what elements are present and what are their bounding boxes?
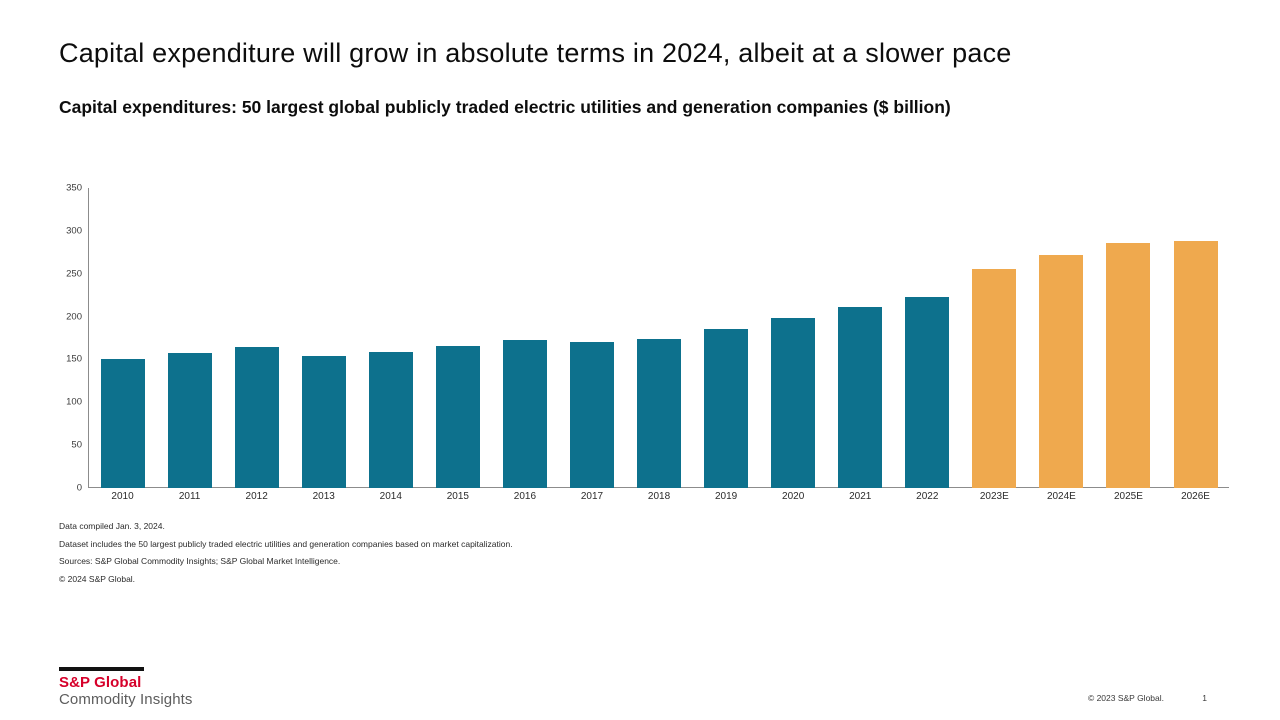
bar-2012[interactable] <box>223 188 290 488</box>
x-axis-label-2022: 2022 <box>894 488 961 505</box>
x-axis-labels: 2010201120122013201420152016201720182019… <box>89 488 1229 505</box>
y-axis-tick-250: 250 <box>66 268 82 279</box>
bar-fill-2025E <box>1106 243 1150 488</box>
y-axis-labels: 050100150200250300350 <box>59 180 86 505</box>
y-axis-tick-350: 350 <box>66 183 82 194</box>
bar-fill-2013 <box>302 356 346 488</box>
bar-fill-2015 <box>436 346 480 488</box>
x-axis-label-2016: 2016 <box>491 488 558 505</box>
x-axis-label-2014: 2014 <box>357 488 424 505</box>
slide: Capital expenditure will grow in absolut… <box>0 0 1280 720</box>
x-axis-label-2017: 2017 <box>558 488 625 505</box>
bar-2023E[interactable] <box>961 188 1028 488</box>
y-axis-tick-300: 300 <box>66 225 82 236</box>
footnote-1: Data compiled Jan. 3, 2024. <box>59 521 959 532</box>
chart-subtitle: Capital expenditures: 50 largest global … <box>59 95 1209 120</box>
y-axis-tick-50: 50 <box>71 440 82 451</box>
footnote-4: © 2024 S&P Global. <box>59 574 959 585</box>
page-number: 1 <box>1202 693 1207 703</box>
bar-2026E[interactable] <box>1162 188 1229 488</box>
bar-fill-2020 <box>771 318 815 488</box>
x-axis-label-2018: 2018 <box>626 488 693 505</box>
bar-2024E[interactable] <box>1028 188 1095 488</box>
bar-2014[interactable] <box>357 188 424 488</box>
logo-rule <box>59 667 144 671</box>
logo-division: Commodity Insights <box>59 691 299 709</box>
bar-fill-2017 <box>570 342 614 488</box>
bar-fill-2026E <box>1174 241 1218 488</box>
x-axis-label-2026E: 2026E <box>1162 488 1229 505</box>
bar-fill-2010 <box>101 359 145 488</box>
bar-fill-2014 <box>369 352 413 488</box>
y-axis-tick-200: 200 <box>66 311 82 322</box>
logo-brand: S&P Global <box>59 674 299 692</box>
bar-fill-2024E <box>1039 255 1083 488</box>
bar-2015[interactable] <box>424 188 491 488</box>
bar-2011[interactable] <box>156 188 223 488</box>
x-axis-label-2015: 2015 <box>424 488 491 505</box>
x-axis-label-2024E: 2024E <box>1028 488 1095 505</box>
x-axis-label-2010: 2010 <box>89 488 156 505</box>
bar-fill-2023E <box>972 269 1016 488</box>
x-axis-label-2025E: 2025E <box>1095 488 1162 505</box>
bar-fill-2011 <box>168 353 212 488</box>
x-axis-label-2011: 2011 <box>156 488 223 505</box>
footnote-3: Sources: S&P Global Commodity Insights; … <box>59 556 959 567</box>
bar-2019[interactable] <box>693 188 760 488</box>
bar-fill-2018 <box>637 339 681 488</box>
bar-2021[interactable] <box>827 188 894 488</box>
slide-title: Capital expenditure will grow in absolut… <box>59 38 1229 69</box>
footer-copyright: © 2023 S&P Global. <box>1088 693 1164 703</box>
footnotes: Data compiled Jan. 3, 2024.Dataset inclu… <box>59 521 959 592</box>
bar-fill-2022 <box>905 297 949 488</box>
bar-fill-2016 <box>503 340 547 488</box>
x-axis-label-2020: 2020 <box>760 488 827 505</box>
y-axis-tick-100: 100 <box>66 397 82 408</box>
bar-fill-2019 <box>704 329 748 488</box>
footnote-2: Dataset includes the 50 largest publicly… <box>59 539 959 550</box>
bar-series <box>89 188 1229 488</box>
bar-chart: 050100150200250300350 201020112012201320… <box>59 180 1229 505</box>
bar-2020[interactable] <box>760 188 827 488</box>
x-axis-label-2021: 2021 <box>827 488 894 505</box>
sp-global-logo: S&P Global Commodity Insights <box>59 667 299 709</box>
x-axis-label-2023E: 2023E <box>961 488 1028 505</box>
bar-2017[interactable] <box>558 188 625 488</box>
bar-2013[interactable] <box>290 188 357 488</box>
y-axis-tick-0: 0 <box>77 483 82 494</box>
y-axis-tick-150: 150 <box>66 354 82 365</box>
bar-2018[interactable] <box>626 188 693 488</box>
bar-2022[interactable] <box>894 188 961 488</box>
bar-fill-2012 <box>235 347 279 488</box>
bar-2010[interactable] <box>89 188 156 488</box>
bar-2016[interactable] <box>491 188 558 488</box>
bar-2025E[interactable] <box>1095 188 1162 488</box>
x-axis-label-2019: 2019 <box>693 488 760 505</box>
bar-fill-2021 <box>838 307 882 488</box>
x-axis-label-2013: 2013 <box>290 488 357 505</box>
x-axis-label-2012: 2012 <box>223 488 290 505</box>
